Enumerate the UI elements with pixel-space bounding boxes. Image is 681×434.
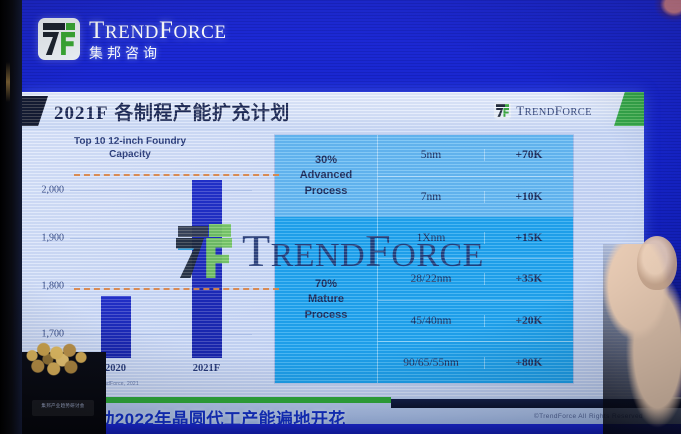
- chart-plot-area: 2,0001,9001,8001,70020202021F: [70, 166, 252, 358]
- banner-bottom-strip: [22, 424, 681, 434]
- brand-wordmark-chinese: 集邦咨询: [89, 46, 227, 60]
- slide-header-logo: TRENDFORCE: [494, 102, 592, 119]
- presentation-slide: 2021F 各制程产能扩充计划 TRENDFORCE Top 10 12-inc…: [22, 92, 644, 397]
- audience-person-head: [637, 236, 677, 290]
- trendforce-logo-top: TRENDFORCE 集邦咨询: [38, 18, 227, 60]
- process-group-label: 30%AdvancedProcess: [275, 135, 378, 217]
- screen-top-band: TRENDFORCE 集邦咨询: [22, 0, 681, 92]
- brand-wordmark: TRENDFORCE: [89, 18, 227, 43]
- chart-gridline: [70, 286, 252, 287]
- table-row: 1Xnm+15K: [378, 217, 573, 259]
- trendforce-mark-icon-small: [494, 102, 511, 119]
- floral-arrangement: [22, 338, 94, 382]
- process-expansion-table: 30%AdvancedProcess5nm+70K7nm+10K70%Matur…: [274, 134, 574, 384]
- chart-bar: [101, 296, 131, 358]
- process-group-label-line: Process: [305, 308, 348, 323]
- process-rows: 1Xnm+15K28/22nm+35K45/40nm+20K90/65/55nm…: [378, 217, 573, 383]
- process-node-cell: 45/40nm: [378, 315, 485, 327]
- process-group-label-line: Process: [305, 184, 348, 199]
- process-group-label: 70%MatureProcess: [275, 217, 378, 383]
- capacity-delta-cell: +15K: [485, 232, 573, 244]
- chart-gridline: [70, 190, 252, 191]
- connector-line-top: [74, 174, 279, 176]
- green-corner-decoration: [614, 92, 644, 126]
- chart-bar: [192, 180, 222, 358]
- podium-nameplate: 集邦产业趋势研讨会: [32, 400, 94, 416]
- capacity-delta-cell: +70K: [485, 149, 573, 161]
- process-node-cell: 7nm: [378, 191, 485, 203]
- capacity-delta-cell: +80K: [485, 357, 573, 369]
- connector-line-middle: [74, 288, 279, 290]
- capacity-delta-cell: +10K: [485, 191, 573, 203]
- chart-title: Top 10 12-inch FoundryCapacity: [40, 136, 220, 161]
- table-row: 90/65/55nm+80K: [378, 342, 573, 383]
- capacity-delta-cell: +20K: [485, 315, 573, 327]
- chart-x-axis-label: 2020: [105, 363, 126, 374]
- table-row: 7nm+10K: [378, 177, 573, 218]
- chart-gridline: [70, 334, 252, 335]
- process-node-cell: 1Xnm: [378, 232, 485, 244]
- process-rows: 5nm+70K7nm+10K: [378, 135, 573, 217]
- chart-y-axis-label: 2,000: [42, 185, 65, 196]
- slide-header: 2021F 各制程产能扩充计划 TRENDFORCE: [22, 92, 644, 130]
- chart-x-axis-label: 2021F: [193, 363, 220, 374]
- table-row: 5nm+70K: [378, 135, 573, 177]
- slide-title: 2021F 各制程产能扩充计划: [54, 98, 290, 125]
- table-row: 45/40nm+20K: [378, 301, 573, 343]
- process-node-cell: 90/65/55nm: [378, 357, 485, 369]
- chart-y-axis-label: 1,800: [42, 281, 65, 292]
- room-left-pillar: [0, 0, 22, 434]
- chart-gridline: [70, 238, 252, 239]
- chart-y-axis-label: 1,900: [42, 233, 65, 244]
- process-group-label-line: Mature: [308, 292, 344, 307]
- process-node-cell: 5nm: [378, 149, 485, 161]
- trendforce-mark-icon: [38, 18, 80, 60]
- slide-header-wordmark: TRENDFORCE: [516, 103, 592, 119]
- podium-nameplate-text: 集邦产业趋势研讨会: [32, 403, 94, 409]
- process-group-advanced: 30%AdvancedProcess5nm+70K7nm+10K: [275, 135, 573, 217]
- process-group-label-line: 70%: [315, 277, 337, 292]
- process-node-cell: 28/22nm: [378, 273, 485, 285]
- process-group-label-line: Advanced: [300, 168, 353, 183]
- process-group-label-line: 30%: [315, 153, 337, 168]
- table-row: 28/22nm+35K: [378, 259, 573, 301]
- slide-title-wedge-decoration: [22, 96, 48, 126]
- pillar-light-glint: [6, 62, 10, 102]
- capacity-delta-cell: +35K: [485, 273, 573, 285]
- photo-of-presentation-screen: TRENDFORCE 集邦咨询 2021F 各制程产能扩充计划 TRENDFOR…: [0, 0, 681, 434]
- process-group-mature: 70%MatureProcess1Xnm+15K28/22nm+35K45/40…: [275, 217, 573, 383]
